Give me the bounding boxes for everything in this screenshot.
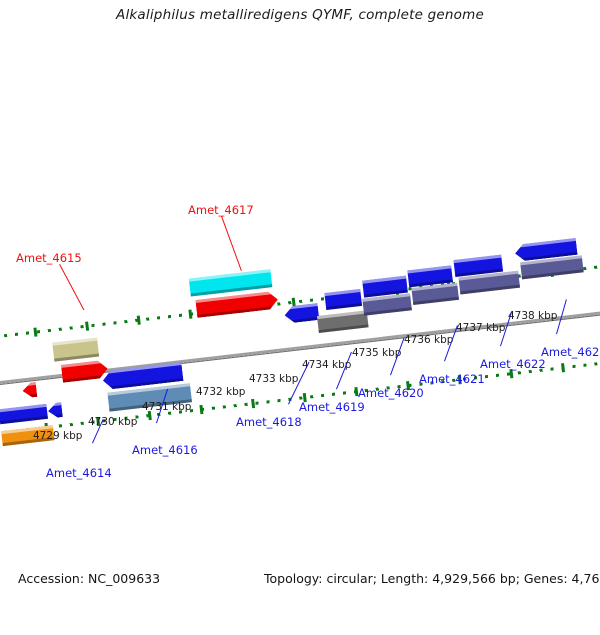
gene-highlight (362, 276, 406, 284)
gene-shadow (522, 269, 584, 279)
gene-body (47, 402, 63, 419)
gene-label-amet_4620[interactable]: Amet_4620 (358, 386, 424, 400)
gene-label-amet_4618[interactable]: Amet_4618 (236, 415, 302, 429)
gene-highlight (514, 238, 576, 248)
gene-highlight (47, 402, 61, 407)
genome-viewer: Alkaliphilus metalliredigens QYMF, compl… (0, 0, 600, 600)
gene-blue-4618[interactable] (284, 303, 320, 324)
ruler-tick (137, 316, 141, 325)
gene-highlight (453, 255, 501, 263)
gene-highlight (61, 360, 107, 368)
gene-label-amet_4623[interactable]: Amet_4623 (541, 345, 600, 359)
ruler-tick (561, 363, 565, 372)
gene-highlight (189, 269, 271, 281)
gene-shadow (460, 285, 520, 295)
gene-body (284, 303, 320, 324)
gene-label-amet_4615[interactable]: Amet_4615 (16, 251, 82, 265)
gene-blue-partial[interactable] (0, 404, 48, 424)
topology-text: Topology: circular; Length: 4,929,566 bp… (264, 571, 600, 586)
gene-shadow (319, 324, 369, 333)
status-bar: Accession: NC_009633 Topology: circular;… (0, 571, 600, 593)
axis-tick-label: 4731 kbp (142, 401, 191, 413)
gene-shadow (364, 307, 412, 315)
accession-text: Accession: NC_009633 (18, 571, 160, 586)
gene-label-amet_4622[interactable]: Amet_4622 (480, 357, 546, 371)
gene-shadow (23, 394, 37, 399)
gene-blue-fragment[interactable] (47, 402, 63, 419)
axis-tick-label: 4737 kbp (456, 322, 505, 334)
gene-khaki-4615[interactable] (52, 338, 99, 362)
gene-shadow (413, 297, 459, 305)
gene-highlight (0, 404, 47, 412)
axis-tick-label: 4736 kbp (404, 334, 453, 346)
gene-shadow (326, 303, 362, 310)
gene-label-amet_4616[interactable]: Amet_4616 (132, 443, 198, 457)
gene-blue-4619b[interactable] (324, 289, 362, 310)
gene-body (324, 289, 362, 310)
gene-gray-4619[interactable] (317, 310, 369, 333)
gene-body (195, 291, 279, 318)
ruler-tick (199, 405, 203, 414)
axis-tick-label: 4730 kbp (88, 416, 137, 428)
gene-body (22, 382, 38, 399)
gene-body (52, 338, 99, 362)
gene-body (0, 404, 48, 424)
gene-shadow (49, 414, 63, 419)
gene-shadow (0, 416, 48, 424)
ruler-tick (85, 322, 89, 331)
gene-shadow (285, 317, 319, 324)
axis-tick-label: 4733 kbp (249, 373, 298, 385)
gene-highlight (317, 310, 367, 319)
gene-label-amet_4619[interactable]: Amet_4619 (299, 400, 365, 414)
gene-label-amet_4621[interactable]: Amet_4621 (419, 372, 485, 386)
gene-red-fragment[interactable] (22, 382, 38, 399)
gene-label-amet_4617[interactable]: Amet_4617 (188, 203, 254, 217)
axis-tick-label: 4732 kbp (196, 386, 245, 398)
axis-tick-label: 4729 kbp (33, 430, 82, 442)
ruler-tick (33, 328, 37, 337)
gene-highlight (52, 338, 97, 346)
gene-red-4617b[interactable] (195, 291, 279, 318)
axis-tick-label: 4738 kbp (508, 310, 557, 322)
ruler-tick (251, 399, 255, 408)
gene-highlight (324, 289, 360, 296)
gene-shadow (197, 306, 279, 318)
gene-body (317, 310, 369, 333)
axis-tick-label: 4735 kbp (352, 347, 401, 359)
gene-highlight (22, 382, 36, 387)
gene-highlight (407, 265, 451, 273)
ruler-tick (188, 310, 192, 319)
gene-label-amet_4614[interactable]: Amet_4614 (46, 466, 112, 480)
